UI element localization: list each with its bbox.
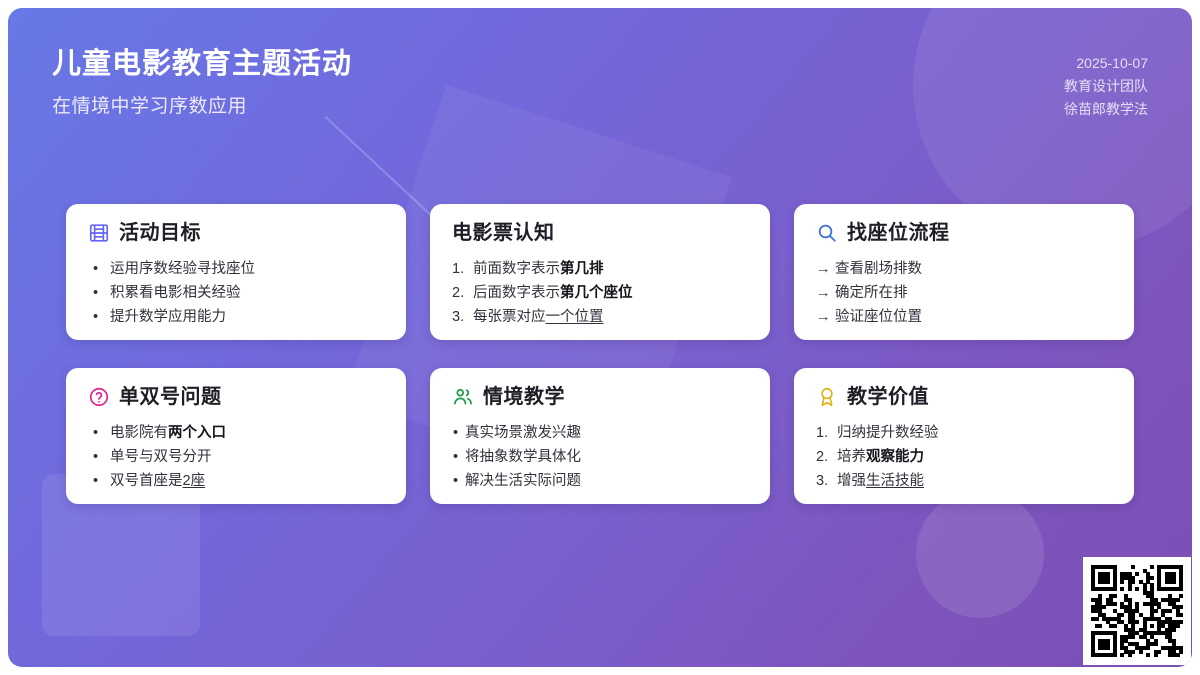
list-marker: • (88, 426, 110, 442)
list-marker: 1. (452, 262, 473, 278)
card-header: 电影票认知 (452, 222, 748, 244)
list-marker: • (452, 426, 465, 442)
list-marker: → (816, 262, 835, 278)
list-item: →确定所在排 (816, 282, 1112, 306)
list-marker: 3. (452, 310, 473, 326)
list-item: 1.归纳提升数经验 (816, 422, 1112, 446)
list-item: •运用序数经验寻找座位 (88, 258, 384, 282)
card-header: 找座位流程 (816, 222, 1112, 244)
card-title: 活动目标 (119, 222, 201, 244)
list-marker: • (88, 474, 110, 490)
list-marker: 3. (816, 474, 837, 490)
list-item-text: 积累看电影相关经验 (110, 286, 241, 302)
list-item: 3.每张票对应一个位置 (452, 306, 748, 330)
list-item-text: 培养观察能力 (837, 450, 924, 466)
list-item: •将抽象数学具体化 (452, 446, 748, 470)
qr-code[interactable] (1083, 557, 1191, 665)
card-ticket-cognition: 电影票认知1.前面数字表示第几排2.后面数字表示第几个座位3.每张票对应一个位置 (430, 204, 770, 340)
list-item: •解决生活实际问题 (452, 470, 748, 494)
list-item: 3.增强生活技能 (816, 470, 1112, 494)
list-item: •积累看电影相关经验 (88, 282, 384, 306)
list-marker: • (88, 286, 110, 302)
list-item-text: 验证座位位置 (835, 310, 922, 326)
list-item-text: 运用序数经验寻找座位 (110, 262, 255, 278)
card-list: →查看剧场排数→确定所在排→验证座位位置 (816, 258, 1112, 330)
card-header: 单双号问题 (88, 386, 384, 408)
card-teaching-value: 教学价值1.归纳提升数经验2.培养观察能力3.增强生活技能 (794, 368, 1134, 504)
card-header: 活动目标 (88, 222, 384, 244)
search-icon (816, 222, 838, 244)
list-item: 1.前面数字表示第几排 (452, 258, 748, 282)
card-title: 电影票认知 (452, 222, 555, 244)
slide-canvas: 儿童电影教育主题活动 在情境中学习序数应用 2025-10-07 教育设计团队 … (8, 8, 1192, 667)
card-find-seat-flow: 找座位流程→查看剧场排数→确定所在排→验证座位位置 (794, 204, 1134, 340)
card-odd-even-question: 单双号问题•电影院有两个入口•单号与双号分开•双号首座是2座 (66, 368, 406, 504)
list-item-text: 归纳提升数经验 (837, 426, 939, 442)
decor-circle-bottom-right (916, 490, 1044, 618)
list-item-text: 后面数字表示第几个座位 (473, 286, 633, 302)
card-title: 情境教学 (483, 386, 565, 408)
card-title: 教学价值 (847, 386, 929, 408)
card-title: 单双号问题 (119, 386, 222, 408)
card-list: •运用序数经验寻找座位•积累看电影相关经验•提升数学应用能力 (88, 258, 384, 330)
list-item: •双号首座是2座 (88, 470, 384, 494)
card-list: •真实场景激发兴趣•将抽象数学具体化•解决生活实际问题 (452, 422, 748, 494)
page-title: 儿童电影教育主题活动 (52, 46, 352, 82)
list-marker: • (88, 450, 110, 466)
list-item-text: 双号首座是2座 (110, 474, 205, 490)
list-marker: 2. (452, 286, 473, 302)
header-team: 教育设计团队 (1064, 75, 1148, 98)
page-subtitle: 在情境中学习序数应用 (52, 91, 352, 118)
card-activity-goals: 活动目标•运用序数经验寻找座位•积累看电影相关经验•提升数学应用能力 (66, 204, 406, 340)
list-marker: 1. (816, 426, 837, 442)
card-header: 教学价值 (816, 386, 1112, 408)
award-ribbon-icon (816, 386, 838, 408)
list-marker: • (88, 310, 110, 326)
list-item-text: 前面数字表示第几排 (473, 262, 604, 278)
list-marker: • (88, 262, 110, 278)
list-item-text: 增强生活技能 (837, 474, 924, 490)
card-list: •电影院有两个入口•单号与双号分开•双号首座是2座 (88, 422, 384, 494)
list-item-text: 查看剧场排数 (835, 262, 922, 278)
list-item: •电影院有两个入口 (88, 422, 384, 446)
list-item-text: 每张票对应一个位置 (473, 310, 604, 326)
slide-header: 儿童电影教育主题活动 在情境中学习序数应用 2025-10-07 教育设计团队 … (8, 8, 1192, 121)
users-icon (452, 386, 474, 408)
card-title: 找座位流程 (847, 222, 950, 244)
list-item: •单号与双号分开 (88, 446, 384, 470)
header-title-group: 儿童电影教育主题活动 在情境中学习序数应用 (52, 46, 352, 118)
list-item-text: 确定所在排 (835, 286, 908, 302)
header-method: 徐苗郎教学法 (1064, 98, 1148, 121)
list-item: →查看剧场排数 (816, 258, 1112, 282)
film-strip-icon (88, 222, 110, 244)
card-list: 1.前面数字表示第几排2.后面数字表示第几个座位3.每张票对应一个位置 (452, 258, 748, 330)
list-item-text: 提升数学应用能力 (110, 310, 226, 326)
list-marker: • (452, 474, 465, 490)
list-marker: 2. (816, 450, 837, 466)
card-situational-teaching: 情境教学•真实场景激发兴趣•将抽象数学具体化•解决生活实际问题 (430, 368, 770, 504)
list-marker: → (816, 310, 835, 326)
list-item: •真实场景激发兴趣 (452, 422, 748, 446)
cards-grid: 活动目标•运用序数经验寻找座位•积累看电影相关经验•提升数学应用能力电影票认知1… (66, 204, 1142, 504)
list-item-text: 将抽象数学具体化 (465, 450, 581, 466)
header-meta: 2025-10-07 教育设计团队 徐苗郎教学法 (1064, 46, 1148, 121)
list-item-text: 解决生活实际问题 (465, 474, 581, 490)
list-item: •提升数学应用能力 (88, 306, 384, 330)
list-item: 2.后面数字表示第几个座位 (452, 282, 748, 306)
list-item-text: 单号与双号分开 (110, 450, 212, 466)
header-date: 2025-10-07 (1064, 52, 1148, 75)
question-circle-icon (88, 386, 110, 408)
list-item-text: 电影院有两个入口 (110, 426, 226, 442)
card-header: 情境教学 (452, 386, 748, 408)
list-marker: • (452, 450, 465, 466)
list-item: 2.培养观察能力 (816, 446, 1112, 470)
list-item-text: 真实场景激发兴趣 (465, 426, 581, 442)
list-marker: → (816, 286, 835, 302)
qr-code-canvas (1091, 565, 1183, 657)
card-list: 1.归纳提升数经验2.培养观察能力3.增强生活技能 (816, 422, 1112, 494)
list-item: →验证座位位置 (816, 306, 1112, 330)
